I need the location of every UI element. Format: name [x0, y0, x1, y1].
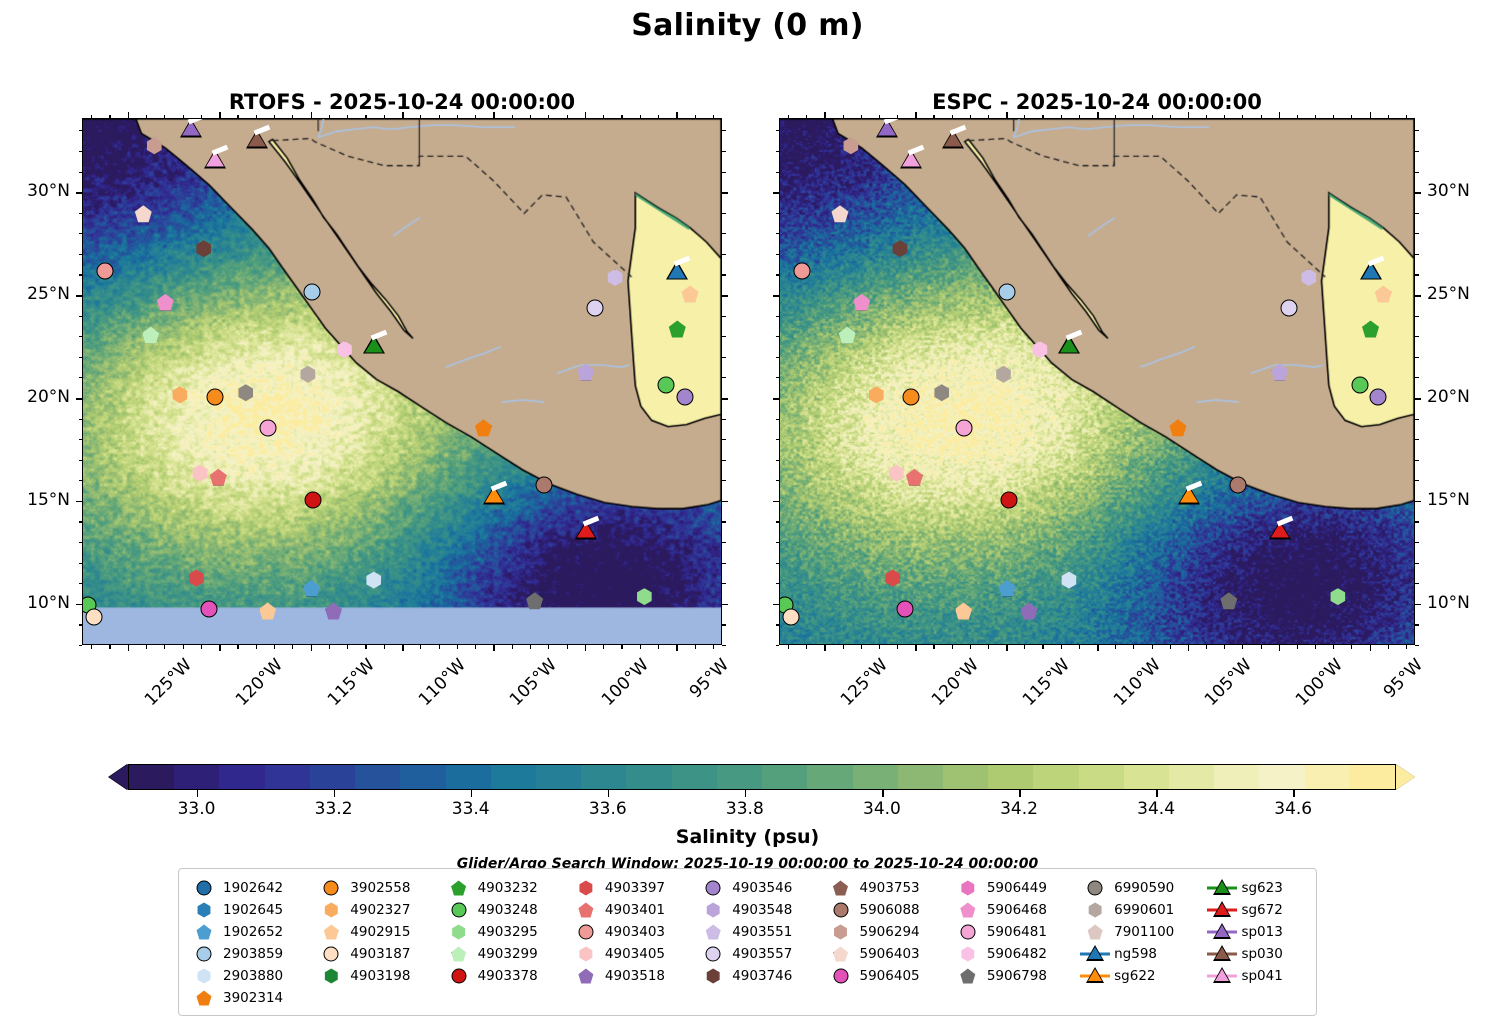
legend-item-1902642[interactable]: 1902642	[189, 877, 306, 899]
map-marker-2903880[interactable]	[365, 572, 382, 589]
x-tick	[402, 112, 404, 118]
y-tick-minor	[79, 151, 83, 152]
marker-hex	[237, 384, 254, 401]
x-tick-minor	[861, 645, 862, 649]
map-marker-4903401[interactable]	[210, 469, 227, 486]
x-tick-minor	[970, 645, 971, 649]
x-tick-minor	[475, 645, 476, 649]
map-marker-4902327[interactable]	[868, 386, 885, 403]
map-marker-5906403[interactable]	[135, 205, 152, 222]
marker-hex	[933, 384, 950, 401]
x-tick-minor	[567, 115, 568, 119]
y-tick-minor	[1415, 316, 1419, 317]
legend-item-4903378[interactable]: 4903378	[444, 965, 561, 987]
marker-pent	[853, 294, 870, 311]
y-tick-minor	[79, 521, 83, 522]
x-tick-minor	[384, 645, 385, 649]
colorbar-extend-min-arrow	[109, 764, 128, 790]
map-marker-sg622[interactable]	[483, 485, 505, 504]
x-tick-minor	[1079, 645, 1080, 649]
map-marker-4903546[interactable]	[1369, 388, 1386, 405]
map-marker-1902652[interactable]	[999, 580, 1016, 597]
legend-item-5906481[interactable]: 5906481	[953, 921, 1070, 943]
y-tick-minor	[776, 377, 780, 378]
legend-symbol	[444, 900, 474, 920]
legend-item-7901100[interactable]: 7901100	[1080, 921, 1197, 943]
legend-circle	[324, 947, 339, 962]
map-marker-4903546[interactable]	[676, 388, 693, 405]
marker-pent	[906, 469, 923, 486]
colorbar-band	[943, 765, 988, 789]
map-marker-4903295[interactable]	[1329, 588, 1346, 605]
y-tick-minor	[776, 624, 780, 625]
legend-item-5906482[interactable]: 5906482	[953, 943, 1070, 965]
legend-pent	[706, 925, 721, 940]
x-tick	[311, 112, 313, 118]
colorbar-tick-label: 34.6	[1253, 799, 1333, 819]
colorbar-gradient	[128, 764, 1396, 790]
legend-symbol	[189, 878, 219, 898]
map-marker-4902915[interactable]	[955, 603, 972, 620]
map-marker-5906481[interactable]	[955, 419, 972, 436]
x-tick-minor	[1242, 115, 1243, 119]
y-tick-minor	[722, 624, 726, 625]
marker-pent	[669, 320, 686, 337]
map-marker-5906294[interactable]	[146, 137, 163, 154]
map-marker-4902915[interactable]	[259, 603, 276, 620]
colorbar-band	[310, 765, 355, 789]
y-tick-minor	[722, 583, 726, 584]
map-marker-2903859[interactable]	[303, 283, 320, 300]
map-marker-5906481[interactable]	[259, 419, 276, 436]
x-tick-minor	[1061, 115, 1062, 119]
x-tick-minor	[420, 115, 421, 119]
y-tick-minor	[776, 316, 780, 317]
legend-label: 5906481	[983, 924, 1047, 940]
legend-item-4902327[interactable]: 4902327	[316, 899, 433, 921]
map-marker-4903551[interactable]	[1300, 269, 1317, 286]
map-marker-4903378[interactable]	[305, 491, 322, 508]
map-marker-4903746[interactable]	[195, 240, 212, 257]
marker-circle	[259, 419, 276, 436]
colorbar-band	[1124, 765, 1169, 789]
map-marker-4903248b[interactable]	[1351, 376, 1368, 393]
map-marker-5906294[interactable]	[842, 137, 859, 154]
marker-circle	[96, 263, 113, 280]
legend-item-4903198[interactable]: 4903198	[316, 965, 433, 987]
x-tick	[824, 645, 826, 651]
legend-item-4903753[interactable]: 4903753	[826, 877, 943, 899]
map-marker-4903299[interactable]	[839, 327, 856, 344]
legend-item-3902558[interactable]: 3902558	[316, 877, 433, 899]
marker-circle	[676, 388, 693, 405]
y-tick-minor	[776, 583, 780, 584]
legend-item-4903405[interactable]: 4903405	[571, 943, 688, 965]
legend-item-4903299[interactable]: 4903299	[444, 943, 561, 965]
colorbar-band	[265, 765, 310, 789]
x-tick	[1006, 645, 1008, 651]
colorbar-band	[491, 765, 536, 789]
legend-hex	[451, 925, 466, 940]
legend-item-5906449[interactable]: 5906449	[953, 877, 1070, 899]
legend-item-sp030[interactable]: sp030	[1207, 943, 1306, 965]
map-marker-4903405[interactable]	[192, 465, 209, 482]
legend-item-sg672[interactable]: sg672	[1207, 899, 1306, 921]
colorbar-band	[1214, 765, 1259, 789]
y-tick-minor	[79, 233, 83, 234]
marker-pent	[526, 592, 543, 609]
legend-item-6990590[interactable]: 6990590	[1080, 877, 1197, 899]
map-marker-4903403[interactable]	[793, 263, 810, 280]
legend-symbol	[1207, 922, 1237, 942]
x-tick-minor	[1042, 645, 1043, 649]
map-marker-4903397[interactable]	[188, 570, 205, 587]
y-tick-minor	[79, 645, 83, 646]
map-marker-ng598[interactable]	[1360, 261, 1382, 280]
x-tick-minor	[274, 115, 275, 119]
x-tick-minor	[201, 645, 202, 649]
colorbar-tick-label: 34.0	[842, 799, 922, 819]
y-tick-minor	[722, 460, 726, 461]
marker-pent	[1169, 419, 1186, 436]
marker-hex	[995, 366, 1012, 383]
legend-item-5906468[interactable]: 5906468	[953, 899, 1070, 921]
legend-symbol	[444, 878, 474, 898]
marker-hex	[888, 465, 905, 482]
y-tick-minor	[776, 645, 780, 646]
y-tick-minor	[776, 439, 780, 440]
legend-item-4903548[interactable]: 4903548	[698, 899, 815, 921]
y-tick-minor	[776, 563, 780, 564]
legend-hex	[1088, 903, 1103, 918]
map-marker-5906798[interactable]	[1220, 592, 1237, 609]
x-tick-minor	[970, 115, 971, 119]
x-tick-minor	[988, 115, 989, 119]
map-marker-5906405[interactable]	[201, 600, 218, 617]
map-marker-4903187[interactable]	[85, 609, 102, 626]
marker-pent	[999, 580, 1016, 597]
map-marker-5906403[interactable]	[831, 205, 848, 222]
marker-hex	[299, 366, 316, 383]
x-tick-minor	[1351, 645, 1352, 649]
legend-triangle-fill	[1215, 947, 1229, 959]
map-marker-5906798[interactable]	[526, 592, 543, 609]
legend-item-4903557[interactable]: 4903557	[698, 943, 815, 965]
colorbar-tick	[471, 790, 473, 797]
marker-hex	[336, 341, 353, 358]
y-tick	[1415, 398, 1421, 400]
map-marker-sg672[interactable]	[575, 520, 597, 539]
colorbar-band	[1350, 765, 1395, 789]
legend-label: 1902645	[219, 902, 283, 918]
map-marker-4903557[interactable]	[1280, 300, 1297, 317]
legend-item-2903880[interactable]: 2903880	[189, 965, 306, 987]
map-marker-sp030[interactable]	[246, 129, 268, 148]
map-marker-5906468[interactable]	[853, 294, 870, 311]
map-marker-4902327[interactable]	[171, 386, 188, 403]
map-marker-sg623[interactable]	[363, 335, 385, 354]
legend-item-4903746[interactable]: 4903746	[698, 965, 815, 987]
colorbar-tick	[608, 790, 610, 797]
map-marker-sp041[interactable]	[900, 150, 922, 169]
x-tick-label: 110°W	[415, 655, 470, 710]
colorbar-tick	[882, 790, 884, 797]
legend-item-sp013[interactable]: sp013	[1207, 921, 1306, 943]
map-marker-4903548[interactable]	[577, 364, 594, 381]
x-tick-minor	[695, 645, 696, 649]
legend-item-4903232[interactable]: 4903232	[444, 877, 561, 899]
map-marker-2903880[interactable]	[1060, 572, 1077, 589]
map-marker-6990590[interactable]	[933, 384, 950, 401]
y-tick-label: 10°N	[10, 593, 70, 613]
map-marker-5906088[interactable]	[535, 477, 552, 494]
marker-circle	[999, 283, 1016, 300]
map-marker-6990601[interactable]	[299, 366, 316, 383]
map-marker-4903397[interactable]	[884, 570, 901, 587]
x-tick-minor	[457, 645, 458, 649]
y-tick-minor	[722, 419, 726, 420]
map-marker-2903859[interactable]	[999, 283, 1016, 300]
y-tick	[773, 192, 779, 194]
map-marker-5906088[interactable]	[1229, 477, 1246, 494]
map-marker-4903248b[interactable]	[658, 376, 675, 393]
map-marker-3902314[interactable]	[1169, 419, 1186, 436]
legend-item-ng598[interactable]: ng598	[1080, 943, 1197, 965]
x-tick-label: 125°W	[837, 655, 892, 710]
map-panel-rtofs[interactable]	[82, 118, 722, 645]
legend-item-4903295[interactable]: 4903295	[444, 921, 561, 943]
x-tick-minor	[1170, 645, 1171, 649]
legend-label: 4903299	[474, 946, 538, 962]
map-marker-6990590[interactable]	[237, 384, 254, 401]
salinity-field-espc	[780, 119, 1414, 644]
map-marker-4903405[interactable]	[888, 465, 905, 482]
legend-symbol	[826, 878, 856, 898]
map-marker-5906482[interactable]	[336, 341, 353, 358]
map-marker-4902915b[interactable]	[1375, 285, 1392, 302]
legend-symbol	[189, 900, 219, 920]
legend-symbol	[1080, 878, 1110, 898]
legend-item-4903401[interactable]: 4903401	[571, 899, 688, 921]
map-marker-6990601[interactable]	[995, 366, 1012, 383]
map-marker-4903295[interactable]	[636, 588, 653, 605]
marker-pent	[142, 327, 159, 344]
map-marker-sp041[interactable]	[204, 150, 226, 169]
legend-pent	[324, 925, 339, 940]
legend-symbol	[189, 988, 219, 1008]
legend-label: 4903248	[474, 902, 538, 918]
legend-item-3902314[interactable]: 3902314	[189, 987, 306, 1009]
map-marker-4903232[interactable]	[1362, 320, 1379, 337]
legend-item-4903397[interactable]: 4903397	[571, 877, 688, 899]
x-tick-minor	[1333, 645, 1334, 649]
x-tick	[1097, 645, 1099, 651]
map-marker-sp030[interactable]	[942, 129, 964, 148]
colorbar-tick	[1156, 790, 1158, 797]
map-marker-1902652[interactable]	[303, 580, 320, 597]
map-marker-sg623[interactable]	[1058, 335, 1080, 354]
colorbar-band	[219, 765, 264, 789]
marker-hex	[146, 137, 163, 154]
legend-symbol	[316, 944, 346, 964]
map-marker-3902558[interactable]	[902, 388, 919, 405]
x-tick-minor	[439, 645, 440, 649]
legend-hex	[578, 947, 593, 962]
map-marker-4903518[interactable]	[1020, 603, 1037, 620]
map-marker-4903746[interactable]	[891, 240, 908, 257]
marker-pent	[955, 603, 972, 620]
legend-pent	[578, 969, 593, 984]
legend-pent	[451, 881, 466, 896]
y-tick-minor	[79, 316, 83, 317]
map-marker-sg622[interactable]	[1178, 485, 1200, 504]
legend-item-sg623[interactable]: sg623	[1207, 877, 1306, 899]
x-tick-minor	[879, 115, 880, 119]
legend-circle	[833, 969, 848, 984]
map-marker-4903187[interactable]	[782, 609, 799, 626]
legend-circle	[706, 947, 721, 962]
colorbar-band	[626, 765, 671, 789]
x-tick	[311, 645, 313, 651]
map-marker-4903557[interactable]	[587, 300, 604, 317]
y-tick-minor	[79, 563, 83, 564]
marker-circle	[206, 388, 223, 405]
map-marker-5906482[interactable]	[1031, 341, 1048, 358]
x-tick-label: 100°W	[1292, 655, 1347, 710]
x-tick-label: 105°W	[506, 655, 561, 710]
legend-item-5906294[interactable]: 5906294	[826, 921, 943, 943]
legend-symbol	[1207, 878, 1237, 898]
x-tick-minor	[603, 115, 604, 119]
x-tick-minor	[1333, 115, 1334, 119]
legend-item-1902652[interactable]: 1902652	[189, 921, 306, 943]
y-tick	[773, 604, 779, 606]
legend-hex	[197, 903, 212, 918]
map-marker-4903403[interactable]	[96, 263, 113, 280]
legend-item-5906405[interactable]: 5906405	[826, 965, 943, 987]
y-tick-minor	[79, 172, 83, 173]
x-tick-minor	[1115, 645, 1116, 649]
map-marker-sp013[interactable]	[876, 119, 898, 138]
y-tick-minor	[722, 254, 726, 255]
legend-symbol	[316, 966, 346, 986]
y-tick-minor	[722, 645, 726, 646]
legend-item-4903187[interactable]: 4903187	[316, 943, 433, 965]
legend-symbol	[826, 944, 856, 964]
legend-label: 5906798	[983, 968, 1047, 984]
legend-label: 4903551	[728, 924, 792, 940]
marker-hex	[1300, 269, 1317, 286]
legend-symbol	[953, 878, 983, 898]
legend-symbol	[1080, 966, 1110, 986]
x-tick-minor	[788, 115, 789, 119]
x-tick-minor	[475, 115, 476, 119]
x-tick-minor	[256, 115, 257, 119]
map-marker-4903551[interactable]	[607, 269, 624, 286]
legend-label: 3902314	[219, 990, 283, 1006]
legend-symbol	[571, 944, 601, 964]
legend-symbol	[1207, 944, 1237, 964]
map-marker-4903299[interactable]	[142, 327, 159, 344]
colorbar-band	[898, 765, 943, 789]
map-marker-4903518[interactable]	[325, 603, 342, 620]
legend-item-5906403[interactable]: 5906403	[826, 943, 943, 965]
colorbar-band	[1033, 765, 1078, 789]
x-tick-minor	[640, 645, 641, 649]
map-marker-3902558[interactable]	[206, 388, 223, 405]
legend-triangle-outline	[1086, 967, 1104, 983]
legend-item-5906798[interactable]: 5906798	[953, 965, 1070, 987]
colorbar	[128, 764, 1396, 790]
map-marker-4903378[interactable]	[1000, 491, 1017, 508]
legend-item-4903551[interactable]: 4903551	[698, 921, 815, 943]
x-tick-minor	[1315, 115, 1316, 119]
legend-item-4902915[interactable]: 4902915	[316, 921, 433, 943]
x-tick-minor	[1115, 115, 1116, 119]
y-tick	[773, 398, 779, 400]
legend-label: 4903548	[728, 902, 792, 918]
map-marker-4902915b[interactable]	[682, 285, 699, 302]
x-tick-minor	[640, 115, 641, 119]
marker-circle	[1351, 376, 1368, 393]
map-marker-sg672[interactable]	[1269, 520, 1291, 539]
map-marker-5906405[interactable]	[897, 600, 914, 617]
y-tick-label: 15°N	[1427, 490, 1470, 510]
y-tick-minor	[1415, 521, 1419, 522]
legend-item-4903248[interactable]: 4903248	[444, 899, 561, 921]
map-marker-3902314[interactable]	[475, 419, 492, 436]
map-marker-4903548[interactable]	[1271, 364, 1288, 381]
legend-item-4903518[interactable]: 4903518	[571, 965, 688, 987]
legend-item-5906088[interactable]: 5906088	[826, 899, 943, 921]
legend-item-sg622[interactable]: sg622	[1080, 965, 1197, 987]
map-marker-ng598[interactable]	[666, 261, 688, 280]
marker-hex	[636, 588, 653, 605]
legend-item-4903403[interactable]: 4903403	[571, 921, 688, 943]
x-tick	[585, 645, 587, 651]
legend-circle	[197, 881, 212, 896]
legend-item-6990601[interactable]: 6990601	[1080, 899, 1197, 921]
x-tick-minor	[621, 115, 622, 119]
legend-label: 4903198	[346, 968, 410, 984]
colorbar-band	[672, 765, 717, 789]
map-marker-4903401[interactable]	[906, 469, 923, 486]
marker-hex	[884, 570, 901, 587]
map-marker-5906468[interactable]	[157, 294, 174, 311]
x-tick-minor	[109, 115, 110, 119]
x-tick-minor	[1261, 115, 1262, 119]
x-tick	[585, 112, 587, 118]
legend-item-1902645[interactable]: 1902645	[189, 899, 306, 921]
map-marker-4903232[interactable]	[669, 320, 686, 337]
y-tick-minor	[722, 172, 726, 173]
colorbar-band	[446, 765, 491, 789]
x-tick-minor	[329, 115, 330, 119]
legend-item-4903546[interactable]: 4903546	[698, 877, 815, 899]
marker-pent	[1271, 364, 1288, 381]
legend-item-2903859[interactable]: 2903859	[189, 943, 306, 965]
x-tick	[1279, 112, 1281, 118]
colorbar-band	[129, 765, 174, 789]
colorbar-tick	[1019, 790, 1021, 797]
map-panel-espc[interactable]	[779, 118, 1415, 645]
legend-item-sp041[interactable]: sp041	[1207, 965, 1306, 987]
map-marker-sp013[interactable]	[180, 119, 202, 138]
x-tick-minor	[237, 645, 238, 649]
colorbar-band	[536, 765, 581, 789]
colorbar-tick-label: 34.2	[979, 799, 1059, 819]
legend-label: sp041	[1237, 968, 1282, 984]
